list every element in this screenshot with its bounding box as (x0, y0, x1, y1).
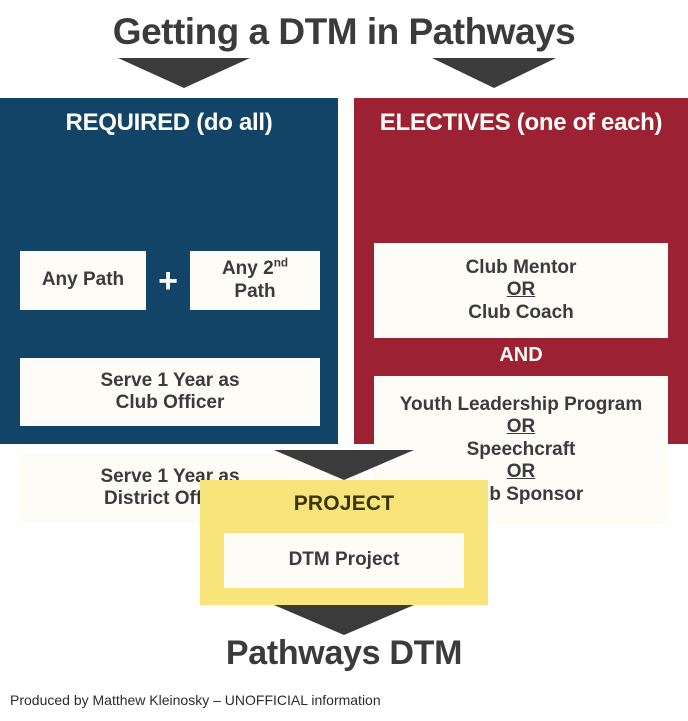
card-club-officer-line2: Club Officer (116, 392, 225, 414)
page-title: Getting a DTM in Pathways (0, 12, 688, 53)
card-ylp-or-2: OR (507, 461, 536, 483)
card-dtm-project-label: DTM Project (289, 549, 400, 571)
electives-panel-header: ELECTIVES (one of each) (354, 98, 688, 135)
card-mentor-option-1: Club Mentor (466, 257, 577, 279)
card-dtm-project[interactable]: DTM Project (224, 533, 464, 588)
down-arrow-icon-top-right (432, 58, 556, 88)
card-ylp-option-2: Speechcraft (467, 439, 576, 461)
plus-icon-glyph: + (158, 264, 178, 298)
card-club-officer-line1: Serve 1 Year as (100, 370, 239, 392)
project-panel: PROJECT DTM Project (200, 480, 488, 605)
electives-panel: ELECTIVES (one of each) Club Mentor OR C… (354, 98, 688, 444)
ordinal-suffix: nd (274, 257, 288, 270)
card-any-path[interactable]: Any Path (20, 251, 146, 310)
card-any-path-label: Any Path (42, 269, 124, 291)
card-mentor-or-1: OR (507, 279, 536, 301)
project-panel-header: PROJECT (200, 480, 488, 516)
path-row: Any Path + Any 2nd Path (20, 251, 320, 310)
card-any-second-path-line2: Path (234, 281, 275, 303)
down-arrow-icon-bottom (274, 605, 414, 635)
required-panel-header: REQUIRED (do all) (0, 98, 338, 135)
card-mentor-coach[interactable]: Club Mentor OR Club Coach (374, 243, 668, 338)
card-ylp-or-1: OR (507, 416, 536, 438)
electives-connector-and: AND (354, 344, 688, 367)
down-arrow-icon-mid (274, 450, 414, 480)
required-panel: REQUIRED (do all) Any Path + Any 2nd Pat… (0, 98, 338, 444)
card-ylp-option-1: Youth Leadership Program (400, 394, 642, 416)
diagram-canvas: Getting a DTM in Pathways REQUIRED (do a… (0, 0, 688, 721)
plus-icon: + (147, 251, 189, 310)
outcome-label: Pathways DTM (0, 634, 688, 673)
card-any-second-path[interactable]: Any 2nd Path (190, 251, 320, 310)
card-mentor-option-2: Club Coach (468, 302, 574, 324)
card-any-second-path-line1: Any 2nd (222, 258, 288, 280)
card-any-second-path-main: Any 2 (222, 258, 274, 279)
down-arrow-icon-top-left (118, 58, 250, 88)
footer-credit: Produced by Matthew Kleinosky – UNOFFICI… (10, 692, 381, 708)
card-club-officer[interactable]: Serve 1 Year as Club Officer (20, 358, 320, 426)
